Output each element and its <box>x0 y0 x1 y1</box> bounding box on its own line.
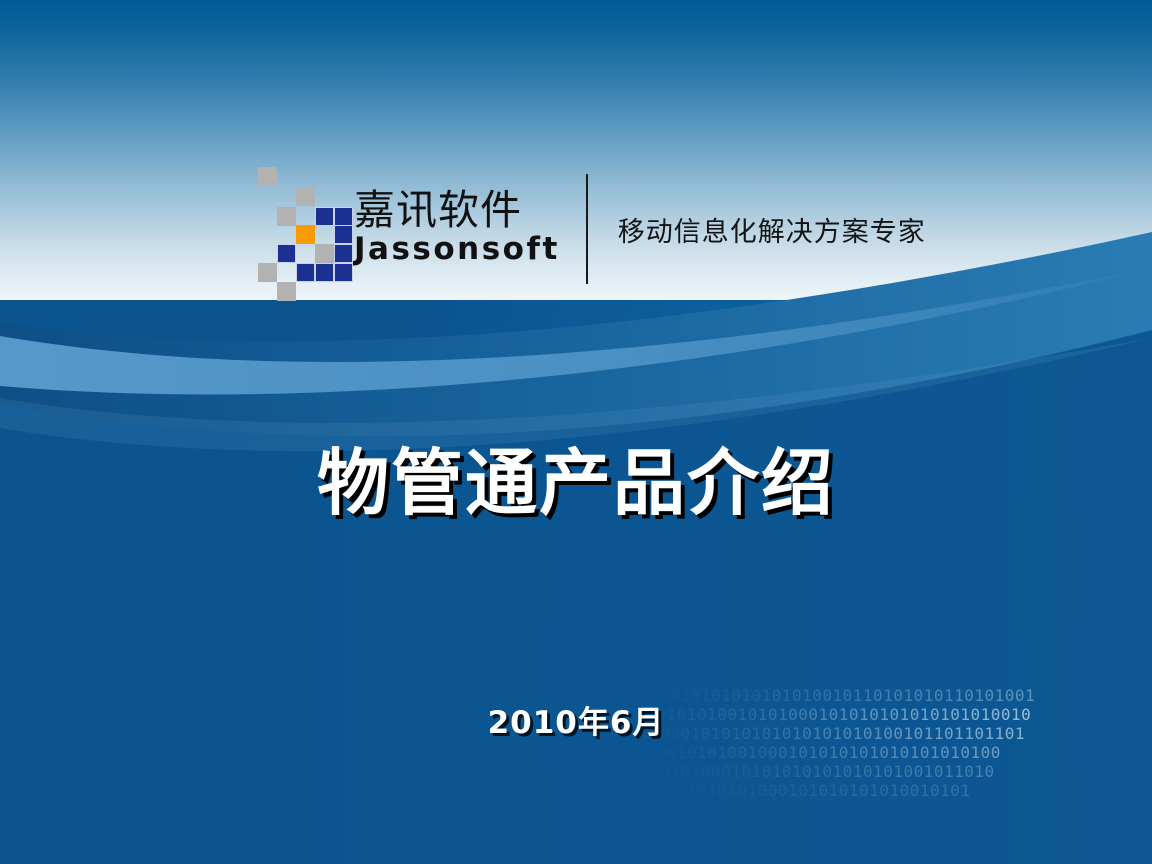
binary-row: 01010100010101010101010101001011010 <box>640 762 1152 781</box>
binary-row: 0100101010010101000101010101010101010010 <box>640 705 1152 724</box>
binary-row: 1010010101001000101010101010101010100 <box>640 743 1152 762</box>
binary-row: 101010101010101010010110101010110101001 <box>640 686 1152 705</box>
logo-wordmark: 嘉讯软件 Jassonsoft <box>354 188 560 270</box>
slide-title: 物管通产品介绍 <box>0 424 1152 529</box>
binary-row: 0101001010101000101010101010010101 <box>640 781 1152 800</box>
logo-divider <box>586 174 588 284</box>
mosaic-mark-icon <box>258 167 344 291</box>
company-name-en: Jassonsoft <box>354 232 560 266</box>
company-tagline: 移动信息化解决方案专家 <box>618 210 926 249</box>
company-name-cn: 嘉讯软件 <box>354 188 560 232</box>
binary-watermark: 1010101010101010100101101010101101010010… <box>640 686 1152 806</box>
presentation-slide: 嘉讯软件 Jassonsoft 移动信息化解决方案专家 物管通产品介绍 2010… <box>0 0 1152 864</box>
company-logo: 嘉讯软件 Jassonsoft 移动信息化解决方案专家 <box>258 166 858 292</box>
binary-row: 01000101010101010101010100101101101101 <box>640 724 1152 743</box>
